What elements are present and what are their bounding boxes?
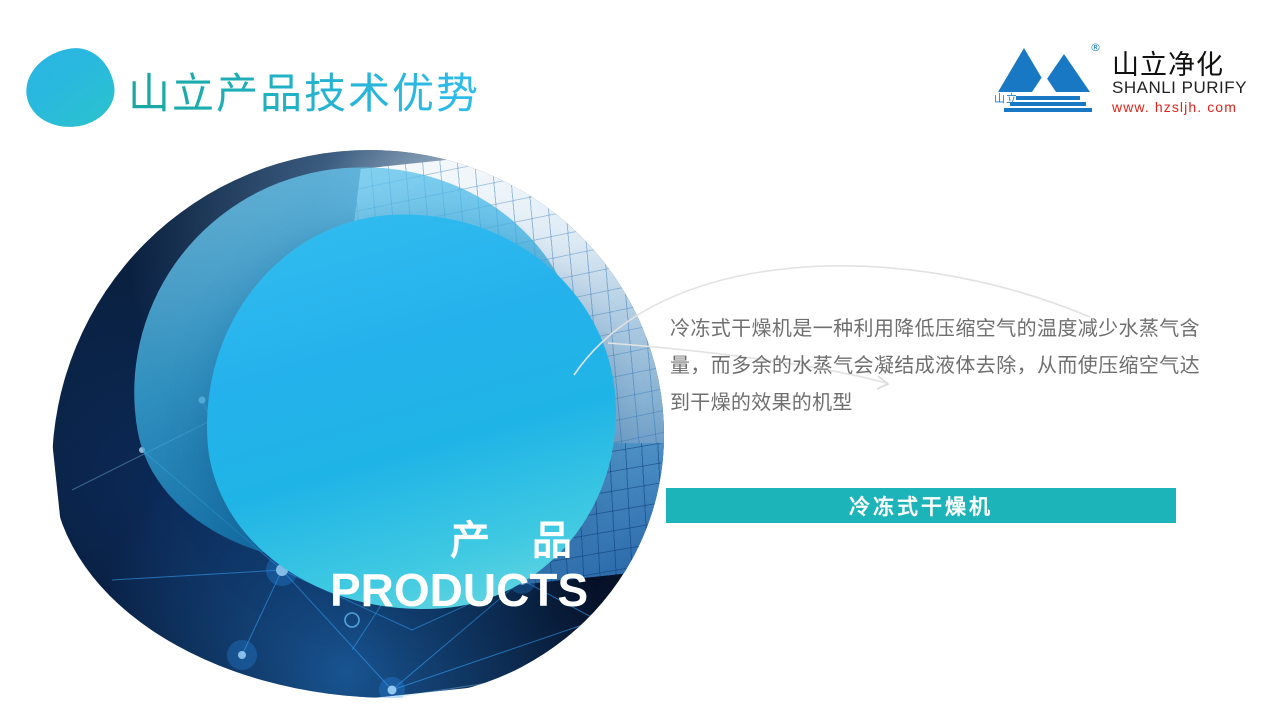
slide-header: 山立产品技术优势 ® 山立 山立净化 SHANLI PURIFY www. hz… (0, 0, 1280, 150)
product-description: 冷冻式干燥机是一种利用降低压缩空气的温度减少水蒸气含量，而多余的水蒸气会凝结成液… (670, 310, 1200, 421)
product-name-label: 冷冻式干燥机 (849, 491, 993, 521)
page-title: 山立产品技术优势 (128, 60, 480, 121)
product-name-banner: 冷冻式干燥机 (666, 488, 1176, 523)
registered-mark-icon: ® (1090, 41, 1101, 54)
company-name-en: SHANLI PURIFY (1112, 78, 1247, 98)
logo-mark-label: 山立 (994, 90, 1018, 106)
company-name-cn: 山立净化 (1112, 43, 1224, 82)
company-logo: ® 山立 山立净化 SHANLI PURIFY www. hzsljh. com (994, 38, 1224, 120)
products-hero-graphic: 产 品 PRODUCTS (52, 150, 664, 698)
company-website: www. hzsljh. com (1112, 99, 1237, 115)
decorative-blob-icon (21, 43, 119, 132)
